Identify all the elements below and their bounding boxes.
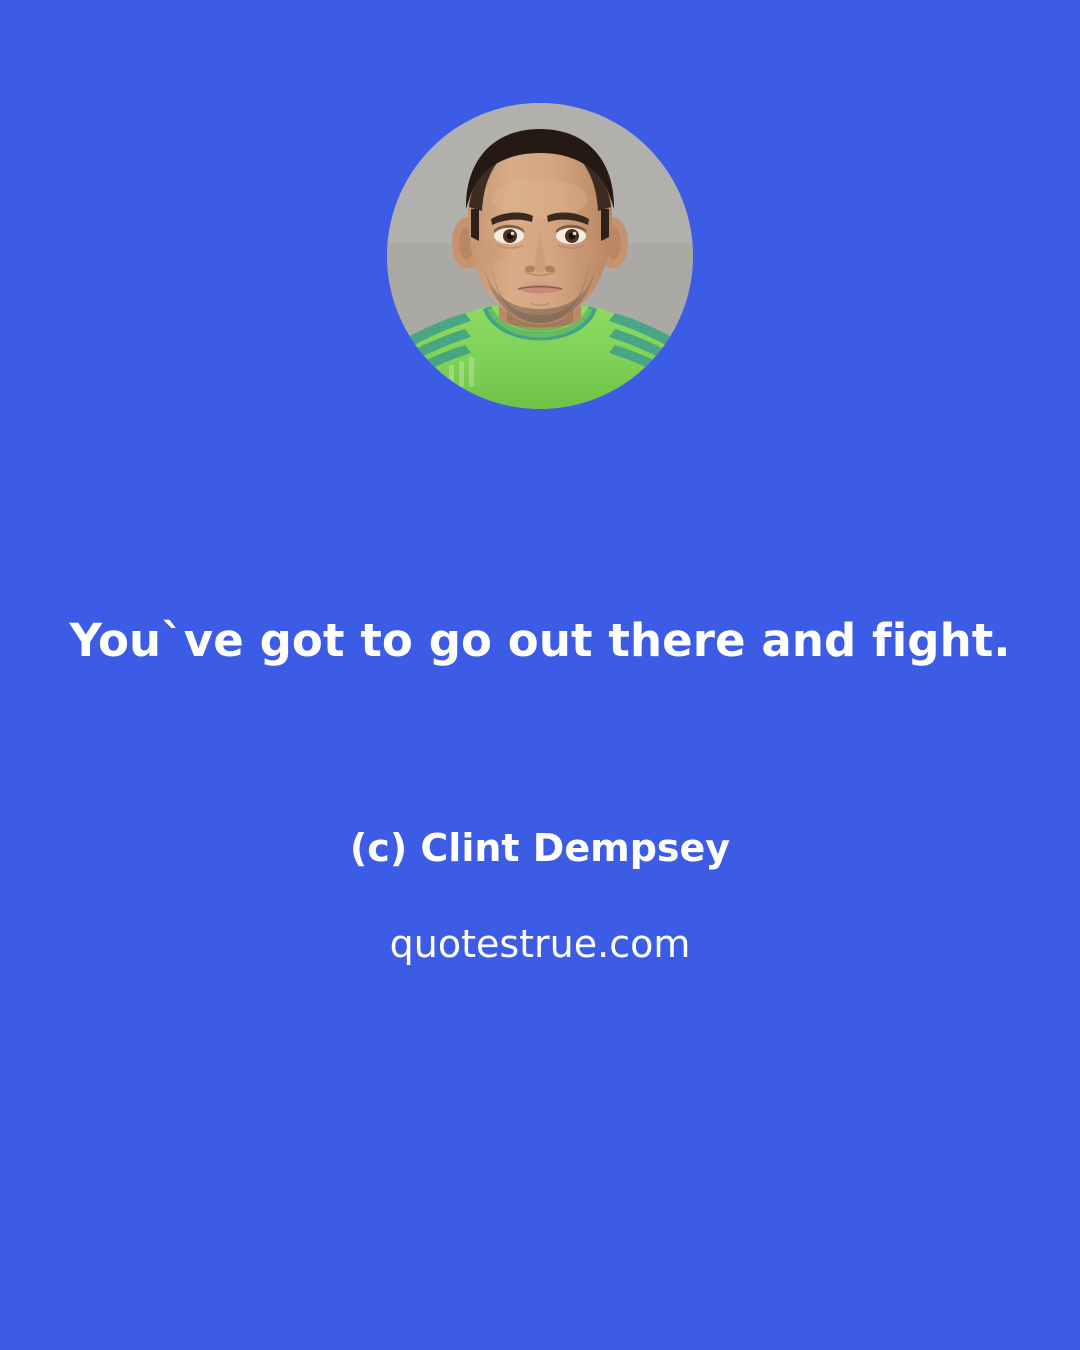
- quote-text: You`ve got to go out there and fight.: [0, 612, 1080, 670]
- source-website: quotestrue.com: [0, 922, 1080, 968]
- avatar: [387, 103, 693, 409]
- portrait-photo-icon: [387, 103, 693, 409]
- quote-attribution: (c) Clint Dempsey: [0, 826, 1080, 872]
- quote-card: You`ve got to go out there and fight. (c…: [0, 0, 1080, 1350]
